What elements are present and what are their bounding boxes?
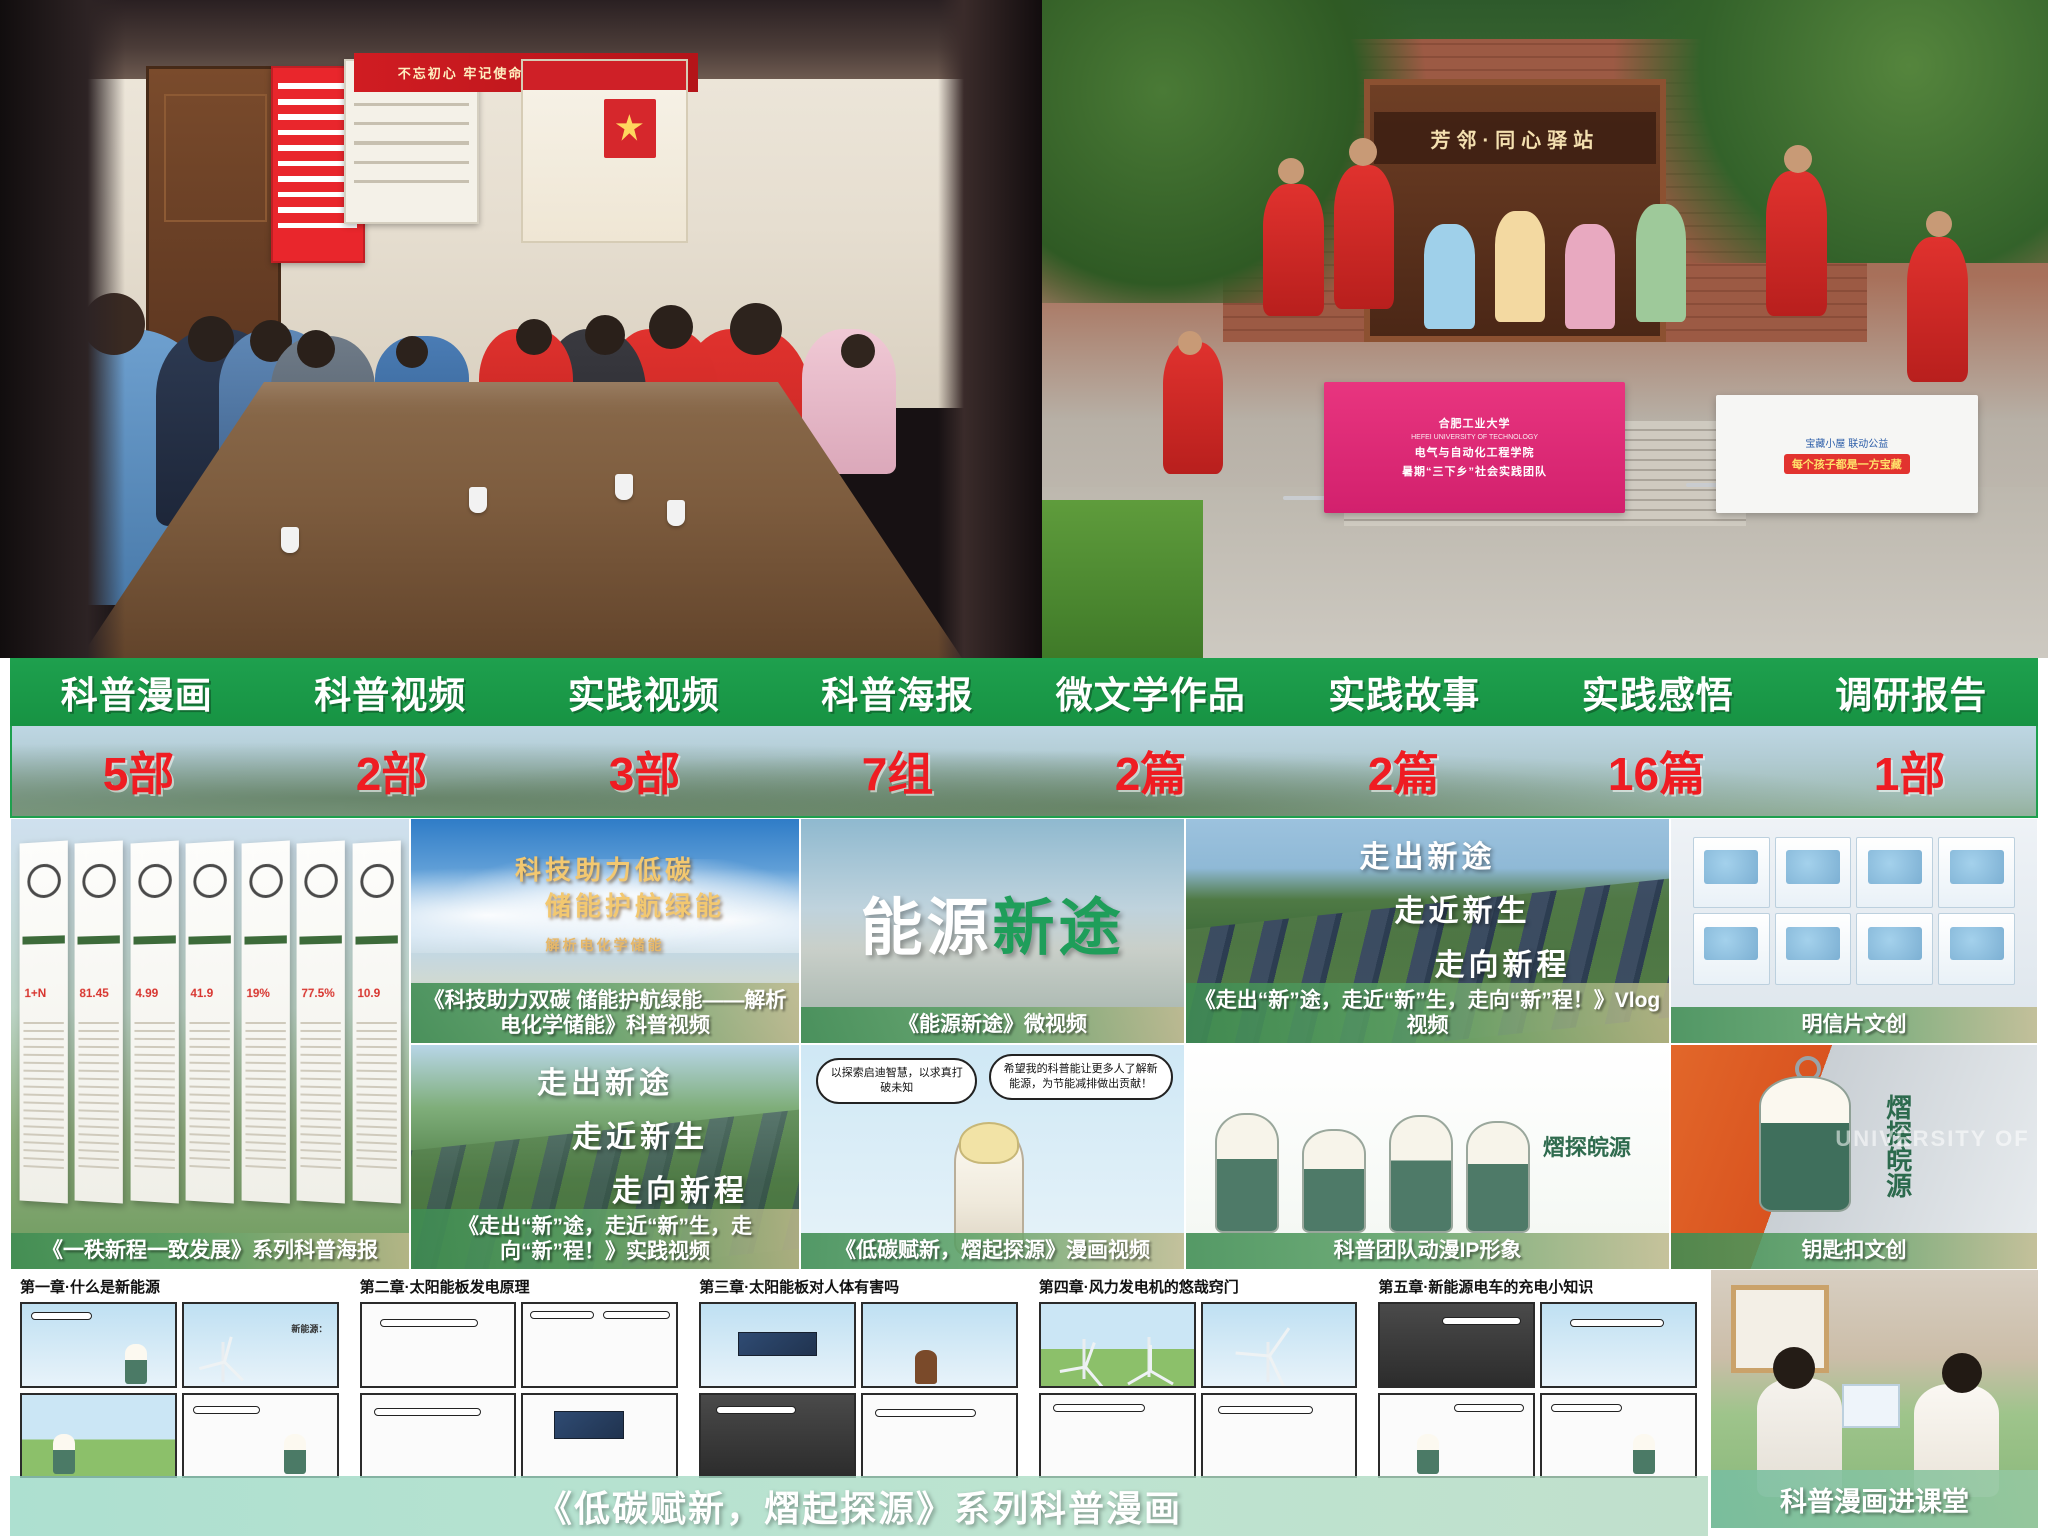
paper-cup <box>469 487 487 513</box>
chapter-title: 第二章·太阳能板发电原理 <box>360 1276 679 1297</box>
tile-caption: 《走出“新”途，走近“新”生，走向“新”程！》Vlog视频 <box>1186 983 1669 1043</box>
wind-icon <box>249 862 282 898</box>
comic-panel <box>182 1393 339 1479</box>
tile-caption: 《一秩新程一致发展》系列科普海报 <box>11 1233 409 1269</box>
poster-sheet: 41.9 <box>186 840 235 1203</box>
category-count-1: 2部 <box>265 738 518 804</box>
comic-panel <box>1039 1302 1196 1388</box>
ev-icon <box>360 862 393 898</box>
category-count-3: 7组 <box>771 738 1024 804</box>
tile-poster-series[interactable]: 1+N 81.45 4.99 41.9 <box>10 818 410 1270</box>
category-label-6: 实践感悟 <box>1531 665 1785 719</box>
head <box>1942 1353 1982 1393</box>
category-count-6: 16篇 <box>1530 738 1783 804</box>
speech-bubble-left: 以探索启迪智慧，以求真打破未知 <box>816 1058 977 1104</box>
person-red <box>1334 165 1394 310</box>
poster-sheet: 19% <box>241 840 290 1203</box>
head <box>1926 211 1952 237</box>
comic-panel <box>360 1302 517 1388</box>
chapter-title: 第四章·风力发电机的悠哉窍门 <box>1039 1276 1358 1297</box>
paper-cup <box>667 500 685 526</box>
thumb-title-line1: 科技助力低碳 <box>411 850 799 887</box>
thumb-title-line1: 走出新途 <box>1186 832 1669 876</box>
chapter-title: 第三章·太阳能板对人体有害吗 <box>699 1276 1018 1297</box>
comic-panel <box>1540 1302 1697 1388</box>
tile-caption: 科普团队动漫IP形象 <box>1186 1233 1669 1269</box>
thumb-title-line3: 走向新程 <box>1186 940 1669 984</box>
mascot-hair <box>959 1122 1019 1164</box>
ip-figure <box>1215 1113 1279 1233</box>
solar-icon <box>304 862 337 898</box>
comic-panel <box>521 1393 678 1479</box>
grass-patch <box>1042 500 1203 658</box>
tile-postcard[interactable]: 明信片文创 <box>1670 818 2038 1044</box>
geothermal-icon <box>138 862 171 898</box>
comic-panel: 新能源： <box>182 1302 339 1388</box>
head <box>730 303 782 355</box>
person-red <box>1766 171 1826 316</box>
head <box>1784 145 1812 173</box>
partner-line-1: 宝藏小屋 联动公益 <box>1805 435 1888 450</box>
category-label-5: 实践故事 <box>1278 665 1532 719</box>
postcard-item <box>1938 837 2015 908</box>
comic-panels: 新能源： <box>20 1302 339 1478</box>
thumb-title-part2: 新途 <box>993 891 1125 964</box>
thumb-title: 能源新途 <box>801 877 1184 967</box>
station-sign: 芳邻·同心驿站 <box>1374 112 1656 165</box>
battery-icon <box>82 862 115 898</box>
comic-panel <box>1378 1393 1535 1479</box>
poster-value: 10.9 <box>357 985 380 999</box>
chapter-title: 第一章·什么是新能源 <box>20 1276 339 1297</box>
poster-page: 不忘初心 牢记使命 保持本色 永远奋斗 <box>0 0 2048 1536</box>
postcard-item <box>1856 913 1933 984</box>
photo-meeting-room: 不忘初心 牢记使命 保持本色 永远奋斗 <box>0 0 1042 658</box>
poster-sheet: 81.45 <box>75 840 124 1203</box>
tile-comic-video[interactable]: 以探索启迪智慧，以求真打破未知 希望我的科普能让更多人了解新能源，为节能减排做出… <box>800 1044 1185 1270</box>
classroom-caption: 科普漫画进课堂 <box>1711 1470 2038 1528</box>
comic-series-caption: 《低碳赋新，熠起探源》系列科普漫画 <box>10 1476 1708 1536</box>
comic-panels <box>1039 1302 1358 1478</box>
comic-panels <box>360 1302 679 1478</box>
person-child <box>1636 204 1686 322</box>
thumb-title-line2: 储能护航绿能 <box>411 886 799 923</box>
postcard-item <box>1775 837 1852 908</box>
comic-panels <box>699 1302 1018 1478</box>
comic-book <box>1842 1384 1900 1428</box>
comic-panel <box>360 1393 517 1479</box>
comic-panel <box>521 1302 678 1388</box>
comic-panel <box>861 1302 1018 1388</box>
category-count-0: 5部 <box>12 738 265 804</box>
postcard-item <box>1693 913 1770 984</box>
tile-ip-image[interactable]: 熠探皖源 科普团队动漫IP形象 <box>1185 1044 1670 1270</box>
tile-caption: 《走出“新”途，走近“新”生，走向“新”程！》实践视频 <box>411 1209 799 1269</box>
comic-panel <box>1039 1393 1196 1479</box>
ip-stamp-text: 熠探皖源 <box>1524 1085 1650 1210</box>
classroom-photo: 科普漫画进课堂 <box>1708 1270 2038 1528</box>
banner-line-3: 电气与自动化工程学院 <box>1415 444 1535 460</box>
comic-panel <box>1201 1302 1358 1388</box>
comic-panel <box>1378 1302 1535 1388</box>
tile-caption: 钥匙扣文创 <box>1671 1233 2037 1269</box>
comic-panel <box>1540 1393 1697 1479</box>
person-red <box>1907 237 1967 382</box>
person-red <box>1163 342 1223 474</box>
poster-sheet: 4.99 <box>130 840 179 1203</box>
poster-value: 81.45 <box>80 985 109 999</box>
banner-line-1: 合肥工业大学 <box>1439 415 1511 431</box>
comic-panel <box>20 1393 177 1479</box>
person-red <box>1263 184 1323 316</box>
thumb-title-line1: 走出新途 <box>411 1058 799 1102</box>
co2-icon <box>27 862 60 898</box>
biomass-icon <box>193 862 226 898</box>
category-label-0: 科普漫画 <box>10 665 264 719</box>
panel-note: 新能源： <box>291 1322 327 1335</box>
person-child <box>1424 224 1474 329</box>
photo-group-outdoor: 芳邻·同心驿站 <box>1042 0 2048 658</box>
tile-vlog-video[interactable]: 走出新途 走近新生 走向新程 《走出“新”途，走近“新”生，走向“新”程！》Vl… <box>1185 818 1670 1044</box>
comic-panel <box>1201 1393 1358 1479</box>
postcard-item <box>1693 837 1770 908</box>
comic-panel <box>861 1393 1018 1479</box>
postcard-set <box>1693 837 2015 985</box>
partner-line-2: 每个孩子都是一方宝藏 <box>1784 454 1910 474</box>
poster-value: 1+N <box>24 985 46 999</box>
chapter-title: 第五章·新能源电车的充电小知识 <box>1378 1276 1697 1297</box>
postcard-item <box>1856 837 1933 908</box>
comic-panels <box>1378 1302 1697 1478</box>
thumb-title-line2: 走近新生 <box>411 1112 799 1156</box>
partner-banner: 宝藏小屋 联动公益 每个孩子都是一方宝藏 <box>1716 395 1978 513</box>
tile-energy-new-road[interactable]: 能源新途 《能源新途》微视频 <box>800 818 1185 1044</box>
tile-caption: 《科技助力双碳 储能护航绿能——解析电化学储能》科普视频 <box>411 983 799 1043</box>
banner-line-4: 暑期“三下乡”社会实践团队 <box>1402 463 1547 479</box>
head <box>1178 331 1202 355</box>
count-band: 5部 2部 3部 7组 2篇 2篇 16篇 1部 <box>10 726 2038 818</box>
poster-sheets: 1+N 81.45 4.99 41.9 <box>19 842 401 1202</box>
poster-value: 77.5% <box>302 985 335 999</box>
postcard-item <box>1938 913 2015 984</box>
poster-sheet: 10.9 <box>352 840 401 1203</box>
banner-line-2: HEFEI UNIVERSITY OF TECHNOLOGY <box>1411 434 1538 441</box>
poster-value: 41.9 <box>191 985 214 999</box>
poster-sheet: 1+N <box>20 840 69 1203</box>
tile-kepu-video-1[interactable]: 科技助力低碳 储能护航绿能 解析电化学储能 《科技助力双碳 储能护航绿能——解析… <box>410 818 800 1044</box>
category-count-2: 3部 <box>518 738 771 804</box>
outdoor-scene: 芳邻·同心驿站 <box>1042 0 2048 658</box>
ip-figure <box>1466 1121 1530 1233</box>
person-child <box>1565 224 1615 329</box>
university-banner: 合肥工业大学 HEFEI UNIVERSITY OF TECHNOLOGY 电气… <box>1324 382 1626 514</box>
tile-caption: 《低碳赋新，熠起探源》漫画视频 <box>801 1233 1184 1269</box>
head <box>649 305 693 349</box>
tile-caption: 明信片文创 <box>1671 1007 2037 1043</box>
tile-caption: 《能源新途》微视频 <box>801 1007 1184 1043</box>
comic-panel <box>699 1393 856 1479</box>
person-child <box>1495 211 1545 323</box>
paper-cup <box>281 527 299 553</box>
thumb-title-part1: 能源 <box>860 891 992 964</box>
comic-panel <box>20 1302 177 1388</box>
poster-value: 4.99 <box>135 985 158 999</box>
paper-cup <box>615 474 633 500</box>
ip-figure <box>1389 1115 1453 1233</box>
category-count-7: 1部 <box>1783 738 2036 804</box>
tile-keychain[interactable]: 熠探皖源 UNIVERSITY OF 钥匙扣文创 <box>1670 1044 2038 1270</box>
category-header-band: 科普漫画 科普视频 实践视频 科普海报 微文学作品 实践故事 实践感悟 调研报告 <box>10 658 2038 726</box>
watermark-text: UNIVERSITY OF <box>1835 1126 2029 1152</box>
postcard-item <box>1775 913 1852 984</box>
category-label-1: 科普视频 <box>264 665 518 719</box>
party-flag-icon <box>604 99 656 158</box>
poster-sheet: 77.5% <box>297 840 346 1203</box>
category-count-4: 2篇 <box>1024 738 1277 804</box>
tile-practice-video[interactable]: 走出新途 走近新生 走向新程 《走出“新”途，走近“新”生，走向“新”程！》实践… <box>410 1044 800 1270</box>
media-grid: 科技助力低碳 储能护航绿能 解析电化学储能 《科技助力双碳 储能护航绿能——解析… <box>10 818 2038 1270</box>
category-count-5: 2篇 <box>1277 738 1530 804</box>
thumb-title-line3: 走向新程 <box>411 1166 799 1210</box>
thumb-subtitle: 解析电化学储能 <box>411 935 799 955</box>
category-label-2: 实践视频 <box>517 665 771 719</box>
category-label-3: 科普海报 <box>771 665 1025 719</box>
category-label-4: 微文学作品 <box>1024 665 1278 719</box>
category-label-7: 调研报告 <box>1785 665 2039 719</box>
speech-bubble-right: 希望我的科普能让更多人了解新能源，为节能减排做出贡献！ <box>989 1054 1173 1100</box>
top-photo-strip: 不忘初心 牢记使命 保持本色 永远奋斗 <box>0 0 2048 658</box>
comic-panel <box>699 1302 856 1388</box>
thumb-title-line2: 走近新生 <box>1186 886 1669 930</box>
head <box>1349 138 1377 166</box>
poster-value: 19% <box>246 985 270 999</box>
ip-figure <box>1302 1129 1366 1233</box>
meeting-room-scene: 不忘初心 牢记使命 保持本色 永远奋斗 <box>0 0 1042 658</box>
